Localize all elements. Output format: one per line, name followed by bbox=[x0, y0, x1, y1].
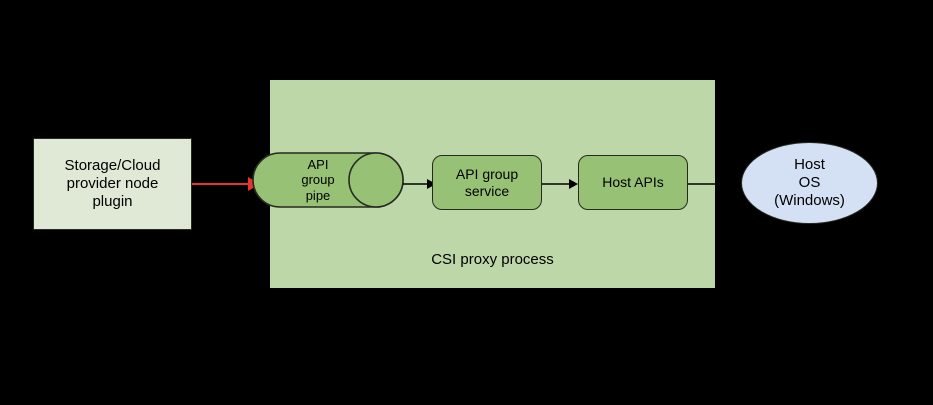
node-label-stack: Storage/Cloud provider node plugin bbox=[65, 157, 161, 210]
api-group-service-label-stack: API group service bbox=[456, 166, 518, 199]
node-host-apis[interactable]: Host APIs bbox=[578, 155, 688, 210]
plugin-label-line-3: plugin bbox=[65, 193, 161, 211]
plugin-label-line-2: provider node bbox=[65, 175, 161, 193]
api-group-service-label-line-2: service bbox=[456, 183, 518, 200]
edge-api-group-service-to-host-apis bbox=[542, 172, 580, 196]
host-apis-label: Host APIs bbox=[602, 174, 663, 191]
host-os-label-line-1: Host bbox=[794, 156, 825, 174]
edge-host-apis-to-host-os bbox=[688, 172, 716, 196]
node-api-group-service[interactable]: API group service bbox=[432, 155, 542, 210]
node-api-group-pipe[interactable]: API group pipe bbox=[252, 152, 404, 208]
host-os-label-line-2: OS bbox=[799, 174, 821, 192]
csi-proxy-process-label: CSI proxy process bbox=[431, 251, 554, 269]
plugin-label-line-1: Storage/Cloud bbox=[65, 157, 161, 175]
api-group-service-label-line-1: API group bbox=[456, 166, 518, 183]
node-host-os-windows[interactable]: Host OS (Windows) bbox=[741, 142, 878, 224]
host-os-label-line-3: (Windows) bbox=[774, 192, 845, 210]
node-storage-cloud-provider-plugin[interactable]: Storage/Cloud provider node plugin bbox=[33, 138, 192, 230]
diagram-canvas: Storage/Cloud provider node plugin CSI p… bbox=[0, 0, 933, 405]
